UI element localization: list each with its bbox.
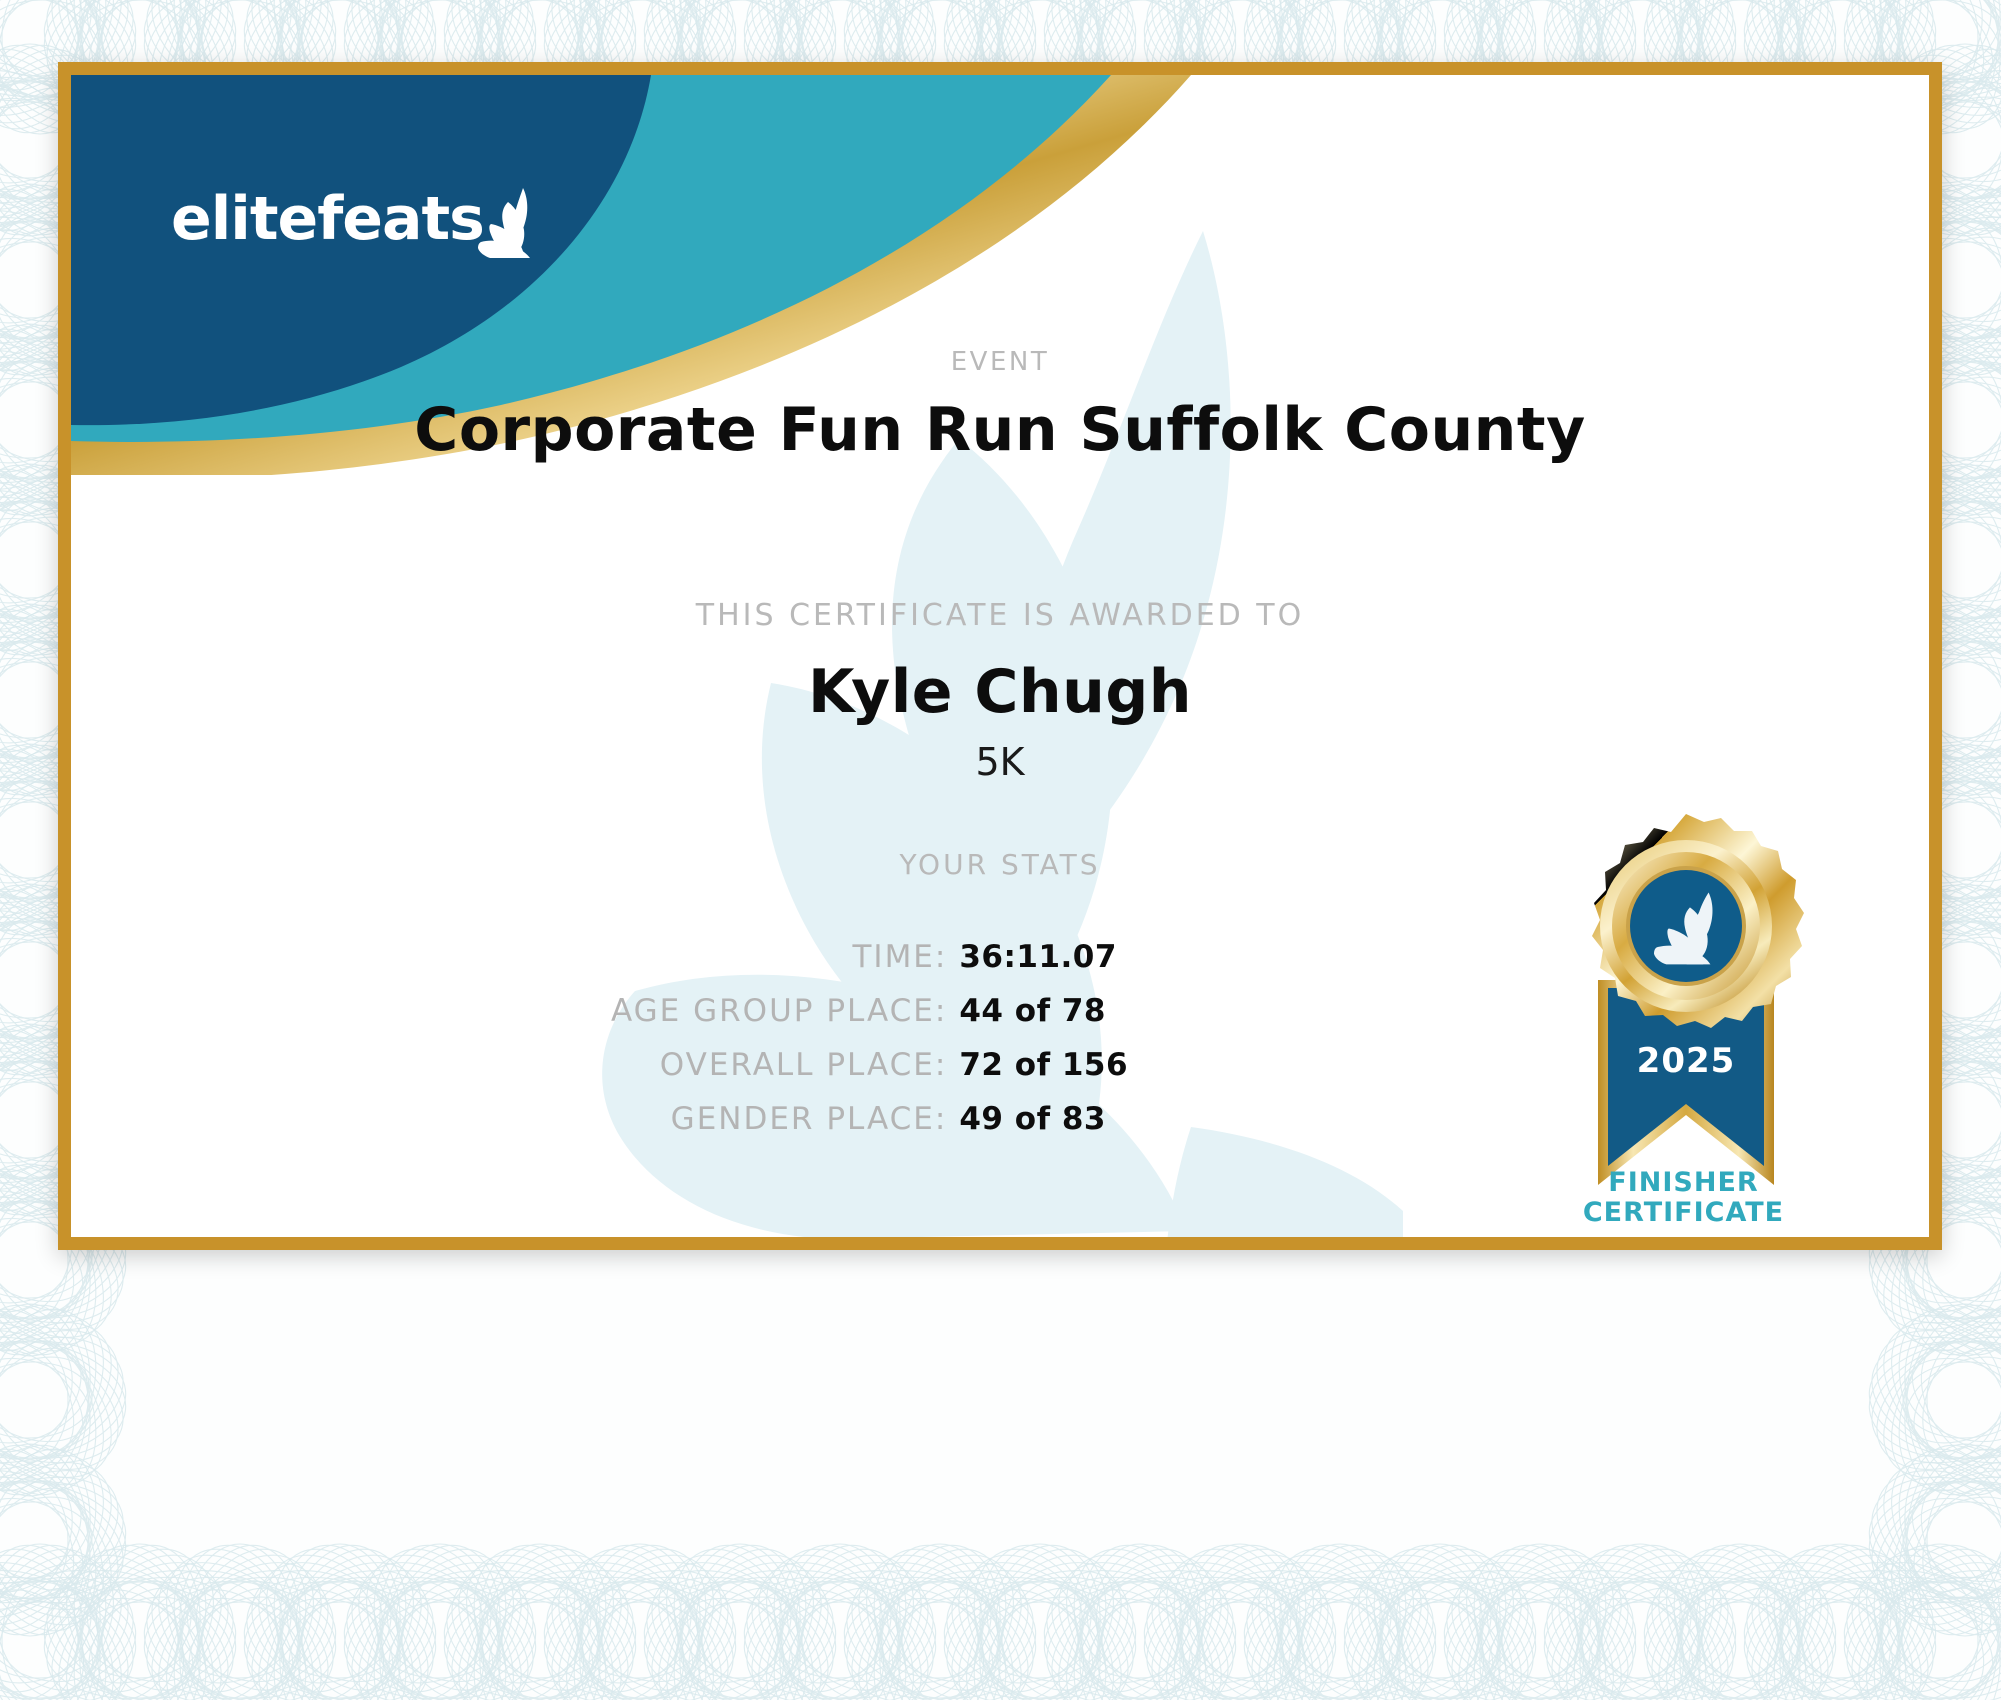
stat-label: GENDER PLACE:: [611, 1092, 959, 1146]
event-label: EVENT: [71, 347, 1929, 377]
badge-caption-line-1: FINISHER: [1511, 1168, 1856, 1198]
certificate-frame: elitefeats EVENT Corporate Fun Run Suffo…: [58, 62, 1942, 1250]
certificate-body: elitefeats EVENT Corporate Fun Run Suffo…: [71, 75, 1929, 1237]
badge-caption: FINISHER CERTIFICATE: [1511, 1168, 1856, 1228]
table-row: OVERALL PLACE: 72 of 156: [611, 1038, 1128, 1092]
brand-wordmark: elitefeats: [171, 184, 484, 254]
medal-starburst: [1592, 814, 1804, 1028]
table-row: AGE GROUP PLACE: 44 of 78: [611, 984, 1128, 1038]
recipient-name: Kyle Chugh: [71, 657, 1929, 727]
table-row: TIME: 36:11.07: [611, 930, 1128, 984]
stat-label: AGE GROUP PLACE:: [611, 984, 959, 1038]
certificate-page: elitefeats EVENT Corporate Fun Run Suffo…: [0, 0, 2001, 1700]
elitefeats-logo: elitefeats: [171, 180, 542, 258]
winged-foot-icon: [478, 186, 542, 258]
stat-label: OVERALL PLACE:: [611, 1038, 959, 1092]
table-row: GENDER PLACE: 49 of 83: [611, 1092, 1128, 1146]
stat-value: 44 of 78: [959, 984, 1128, 1038]
stat-value: 49 of 83: [959, 1092, 1128, 1146]
stat-label: TIME:: [611, 930, 959, 984]
race-distance: 5K: [71, 740, 1929, 784]
event-title: Corporate Fun Run Suffolk County: [71, 395, 1929, 465]
stat-value: 36:11.07: [959, 930, 1128, 984]
awarded-to-label: THIS CERTIFICATE IS AWARDED TO: [71, 598, 1929, 633]
badge-caption-line-2: CERTIFICATE: [1511, 1198, 1856, 1228]
stat-value: 72 of 156: [959, 1038, 1128, 1092]
badge-year: 2025: [1637, 1041, 1736, 1081]
